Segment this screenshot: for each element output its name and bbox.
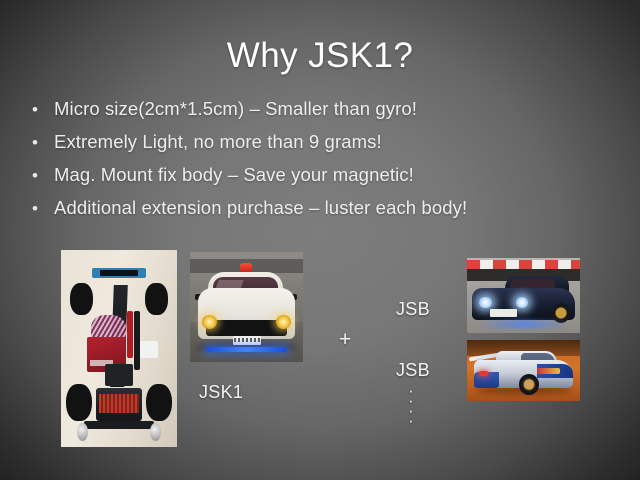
list-item-label: Extremely Light, no more than 9 grams!: [54, 129, 382, 154]
page-title: Why JSK1?: [0, 34, 640, 78]
bullet-list: • Micro size(2cm*1.5cm) – Smaller than g…: [32, 96, 622, 228]
photo-red-bull-rally-car: [467, 340, 580, 401]
photo-white-police-sports-car: [190, 252, 303, 362]
list-item-label: Additional extension purchase – luster e…: [54, 195, 467, 220]
caption-jsb-first: JSB: [396, 298, 430, 320]
bullet-marker-icon: •: [32, 97, 54, 122]
bullet-marker-icon: •: [32, 130, 54, 155]
bullet-marker-icon: •: [32, 163, 54, 188]
photo-dark-blue-coupe: [467, 258, 580, 333]
photo-rc-chassis: [61, 250, 177, 447]
plus-sign-icon: +: [339, 329, 352, 351]
list-item: • Mag. Mount fix body – Save your magnet…: [32, 162, 622, 188]
ellipsis-dot: ·: [408, 416, 414, 426]
list-item: • Additional extension purchase – luster…: [32, 195, 622, 221]
vertical-ellipsis-icon: · · · ·: [408, 386, 414, 426]
list-item-label: Mag. Mount fix body – Save your magnetic…: [54, 162, 414, 187]
list-item: • Micro size(2cm*1.5cm) – Smaller than g…: [32, 96, 622, 122]
caption-jsk1: JSK1: [199, 381, 243, 403]
caption-jsb-second: JSB: [396, 359, 430, 381]
slide-canvas: Why JSK1? • Micro size(2cm*1.5cm) – Smal…: [0, 0, 640, 480]
list-item: • Extremely Light, no more than 9 grams!: [32, 129, 622, 155]
bullet-marker-icon: •: [32, 196, 54, 221]
list-item-label: Micro size(2cm*1.5cm) – Smaller than gyr…: [54, 96, 417, 121]
